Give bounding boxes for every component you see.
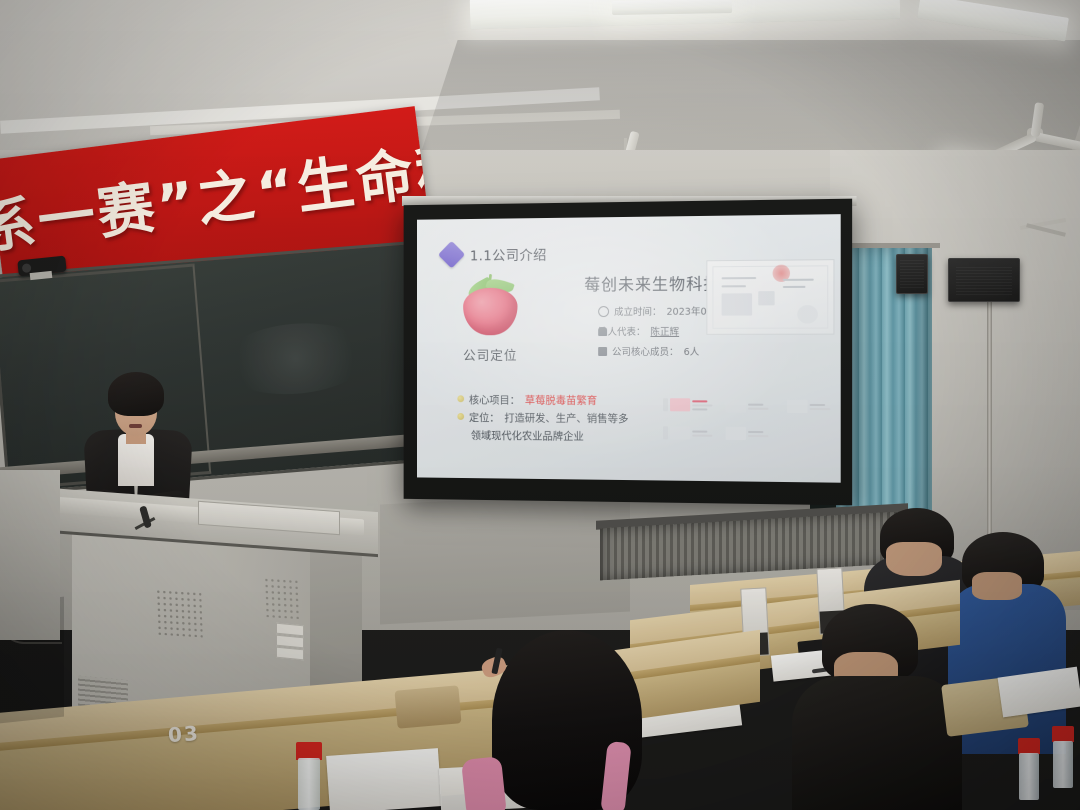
wall-speaker (948, 258, 1020, 302)
mini-card-thumb (787, 400, 808, 413)
presentation-slide: 1.1公司介绍 公司定位 莓创未来生物科 (417, 214, 841, 483)
judge-jacket (792, 676, 962, 810)
mini-card-lines (810, 403, 831, 409)
mini-card (663, 426, 712, 439)
slide-left-column: 公司定位 (442, 268, 557, 369)
mini-card-lines (692, 400, 712, 410)
water-bottle (1052, 726, 1074, 788)
judge-neck (886, 542, 942, 576)
mini-card-thumb (670, 398, 690, 411)
presenter-hair (108, 372, 164, 416)
bullet-continuation: 领域现代化农业品牌企业 (471, 428, 629, 444)
info-value: 陈正辉 (650, 324, 679, 338)
strawberry-body (463, 288, 517, 336)
mini-card-thumb (670, 426, 690, 439)
mini-card-thumb (726, 427, 746, 440)
bottle-body (1019, 753, 1038, 800)
slide-bullet-list: 核心项目： 草莓脱毒苗繁育 定位： 打造研发、生产、销售等多 领域现代化农业品牌… (442, 392, 629, 444)
info-value: 6人 (684, 344, 700, 358)
ceiling-fan (980, 112, 1080, 152)
document-thumbnail-grid (663, 398, 839, 456)
clock-icon (598, 306, 609, 317)
info-label: 成立时间： (614, 304, 661, 318)
bottle-body (1053, 741, 1072, 788)
strawberry-icon (459, 274, 521, 335)
mini-card-thumb (726, 399, 746, 412)
info-line-core-members: 公司核心成员： 6人 (598, 344, 822, 358)
lower-wall-panel (380, 491, 630, 624)
mini-card (726, 399, 769, 412)
chair-back (394, 685, 461, 728)
desk-number-label: 03 (167, 721, 200, 747)
wall-speaker (896, 254, 928, 294)
bullet-core-project: 核心项目： 草莓脱毒苗繁育 (457, 392, 628, 408)
student-pink-top (461, 756, 507, 810)
bottle-cap (1018, 738, 1040, 754)
mini-card-lines (748, 430, 768, 436)
bullet-dot-icon (457, 413, 464, 420)
slide-heading: 1.1公司介绍 (470, 244, 547, 265)
score-sheet (326, 748, 442, 810)
info-label: 公司核心成员： (612, 344, 679, 358)
bullet-label: 定位： (469, 410, 500, 425)
classroom-presentation-photo: 系一赛”之“生命科学竞赛 1.1公司介绍 (0, 0, 1080, 810)
mini-card (726, 427, 769, 440)
bottle-cap (296, 742, 322, 760)
bullet-value: 打造研发、生产、销售等多 (504, 410, 628, 426)
bottle-cap (1052, 726, 1074, 742)
water-bottle (1018, 738, 1040, 800)
mini-card (663, 398, 712, 411)
judge-neck (972, 572, 1022, 600)
fan-blade (1034, 132, 1080, 152)
bottle-body (298, 758, 321, 810)
diamond-bullet-icon (438, 241, 465, 269)
bullet-positioning: 定位： 打造研发、生产、销售等多 (457, 410, 628, 426)
mini-card-tag (663, 426, 668, 439)
side-cabinet (0, 470, 60, 640)
water-bottle (296, 742, 322, 810)
chalk-smudge (218, 318, 373, 400)
person-icon (598, 327, 607, 336)
projection-screen: 1.1公司介绍 公司定位 莓创未来生物科 (404, 199, 853, 506)
mini-card-lines (692, 430, 712, 436)
lectern-speaker-vent (155, 589, 203, 638)
ceiling-light-panel (612, 0, 732, 15)
mini-card-lines (748, 403, 768, 409)
slide-subheading: 公司定位 (463, 345, 557, 364)
lectern-speaker-vent (263, 577, 300, 619)
bullet-value: 草莓脱毒苗繁育 (525, 393, 597, 408)
bullet-dot-icon (457, 395, 464, 402)
mini-card (787, 400, 830, 413)
mini-card-tag (663, 398, 668, 411)
business-license-image (706, 259, 834, 335)
bullet-label: 核心项目： (469, 392, 520, 407)
team-icon (598, 347, 607, 356)
